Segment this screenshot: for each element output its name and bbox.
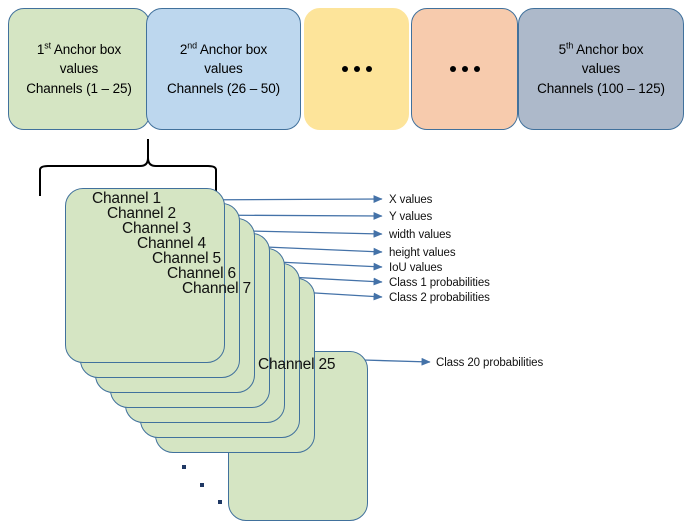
- channel-label-25: Channel 25: [258, 356, 335, 374]
- channel-label-7: Channel 7: [182, 280, 251, 298]
- channel-card-stack: Channel 1Channel 2Channel 3Channel 4Chan…: [0, 0, 691, 531]
- yolo-channel-diagram: 1st Anchor boxvaluesChannels (1 – 25)2nd…: [0, 0, 691, 531]
